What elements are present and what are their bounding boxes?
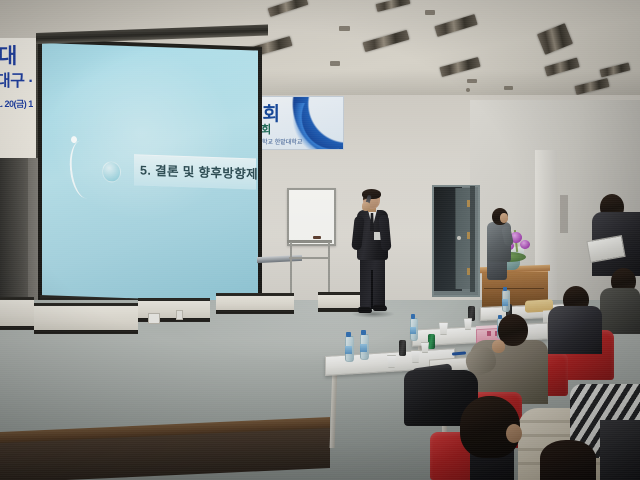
- bottle-label: [360, 344, 367, 352]
- presenter-shoe: [373, 305, 387, 311]
- whiteboard: [287, 188, 336, 246]
- lecture-hall-photo: 표회 표회 구대학교 한밭대학교 대 대구 · 1. 20(금) 1 5. 결론…: [0, 0, 640, 480]
- bottle-label: [410, 327, 416, 334]
- door-jamb: [470, 186, 475, 292]
- event-banner-left: 대 대구 · 1. 20(금) 1: [0, 38, 38, 158]
- audience-shoulder: [600, 420, 640, 480]
- banner-left-line2: 대구 ·: [0, 74, 33, 90]
- wall-outlet: [148, 313, 160, 324]
- banner-left-line3: 1. 20(금) 1: [0, 100, 33, 109]
- projection-screen: 5. 결론 및 향후방향제시: [36, 33, 268, 312]
- slide-circle-icon: [102, 161, 121, 183]
- presenter-leg-split: [371, 270, 373, 309]
- ceiling-vent: [467, 79, 477, 83]
- slide-arc-icon: [67, 140, 101, 200]
- audience-hand: [492, 340, 505, 353]
- audience-person: [600, 288, 640, 334]
- bottle-label: [345, 346, 352, 354]
- presenter-arm-right: [378, 215, 391, 252]
- ceiling-vent: [425, 10, 435, 15]
- baseboard-radiator: [216, 293, 294, 314]
- ceiling-vent: [330, 61, 340, 66]
- projected-slide: 5. 결론 및 향후방향제시: [42, 43, 258, 308]
- bottle-cap: [503, 287, 507, 291]
- ceiling-vent: [339, 26, 350, 31]
- audience-person: [548, 306, 602, 354]
- presenter-hair: [362, 189, 381, 199]
- whiteboard-marker: [313, 236, 321, 239]
- wall-switch: [176, 310, 183, 320]
- bottle-cap: [411, 314, 415, 319]
- wall-fixture: [560, 195, 568, 233]
- presenter-shoe: [358, 307, 372, 313]
- banner-left-line1: 대: [0, 46, 17, 67]
- presenter: [349, 190, 391, 326]
- presenter-hand: [362, 202, 370, 211]
- beverage-can: [428, 334, 435, 349]
- baseboard-radiator: [34, 303, 138, 334]
- foreground-audience-head: [540, 440, 596, 480]
- door-knob-icon[interactable]: [457, 236, 461, 240]
- ceiling-sprinkler: [466, 88, 470, 92]
- slide-heading: 5. 결론 및 향후방향제시: [140, 159, 258, 182]
- bottle-label: [502, 299, 508, 306]
- cabinet-seam: [484, 288, 544, 289]
- bottle-cap: [361, 330, 366, 335]
- ceiling-vent: [504, 86, 513, 90]
- seated-person-face: [500, 213, 508, 223]
- whiteboard-tray: [287, 240, 332, 243]
- beverage-can: [399, 340, 406, 356]
- pink-box-marking: [487, 331, 491, 336]
- audience-ear: [506, 424, 522, 443]
- baseboard-radiator: [0, 297, 34, 330]
- bottle-cap: [346, 332, 351, 337]
- slide-arc-dot-icon: [71, 136, 77, 143]
- whiteboard-crossbar: [289, 257, 330, 259]
- orchid-bloom: [520, 240, 530, 249]
